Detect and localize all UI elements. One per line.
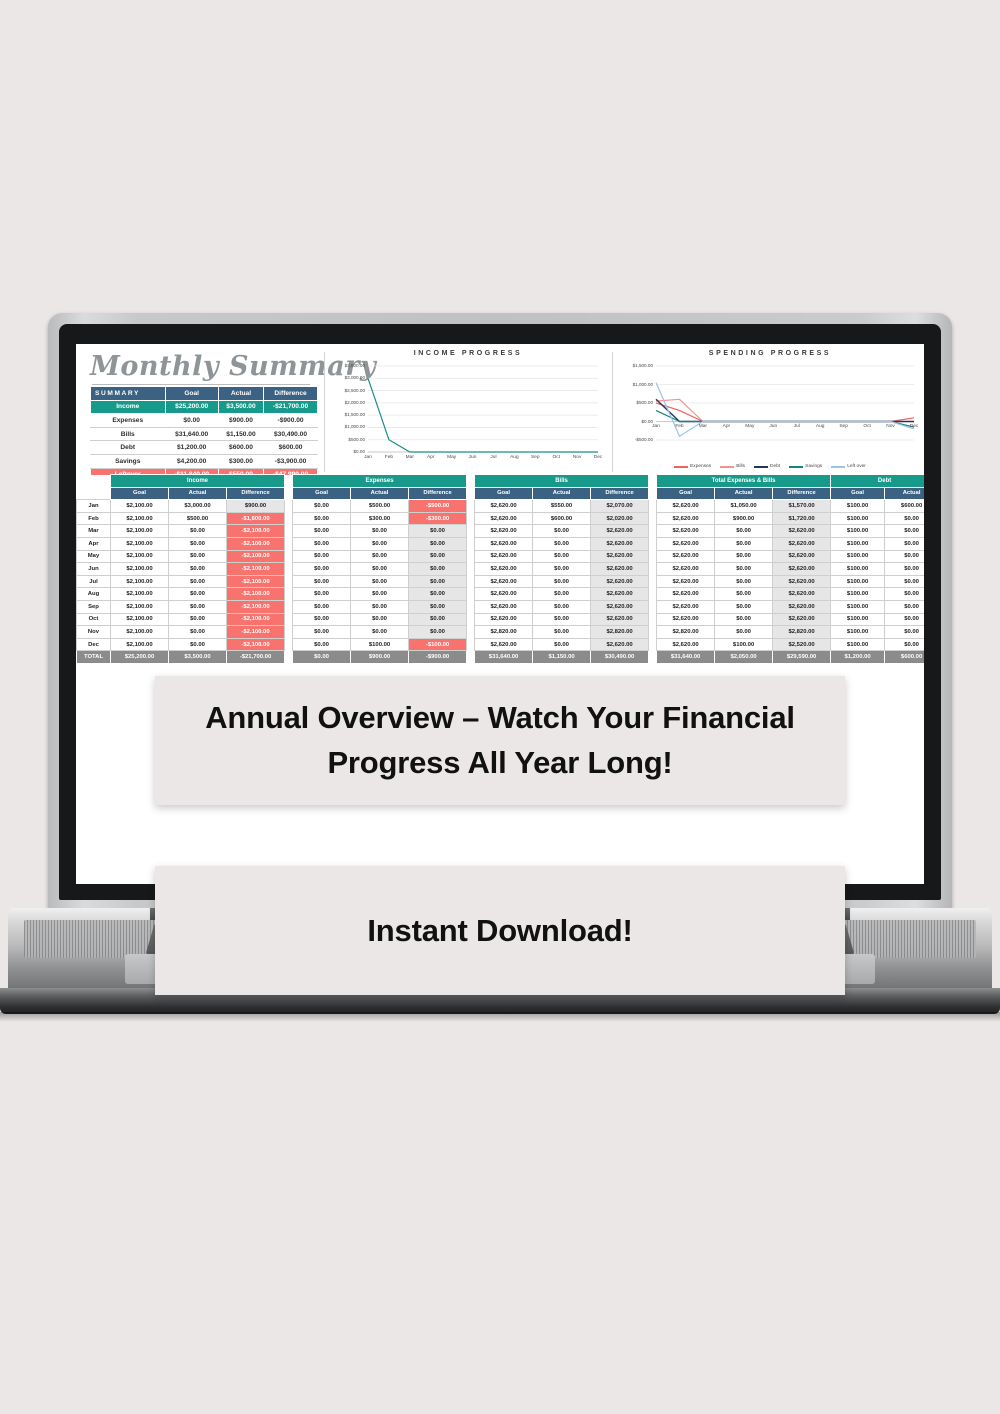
grid-cell-bills-difference: $2,620.00	[591, 525, 649, 538]
grid-cell-expenses-actual: $0.00	[351, 537, 409, 550]
summary-row-label: Debt	[91, 441, 166, 455]
x-axis-tick-label: Feb	[378, 455, 400, 460]
y-axis-tick-label: $0.00	[620, 419, 653, 424]
legend-label: Debt	[770, 464, 780, 469]
grid-total-cell-income: $3,500.00	[169, 651, 227, 664]
summary-row-difference: $600.00	[264, 441, 318, 455]
grid-cell-expenses-difference: $0.00	[409, 575, 467, 588]
y-axis-tick-label: $500.00	[332, 437, 365, 442]
grid-cell-income-difference: -$2,100.00	[227, 600, 285, 613]
grid-spacer	[649, 500, 657, 513]
summary-row-goal: $4,200.00	[165, 454, 218, 468]
grid-spacer	[467, 626, 475, 639]
summary-row-label: Bills	[91, 427, 166, 441]
grid-cell-bills-actual: $0.00	[533, 575, 591, 588]
grid-cell-expenses-goal: $0.00	[293, 613, 351, 626]
grid-cell-bills-difference: $2,620.00	[591, 550, 649, 563]
x-axis-tick-label: Oct	[856, 424, 878, 429]
grid-cell-income-actual: $0.00	[169, 537, 227, 550]
income-progress-chart: INCOME PROGRESS $3,500.00$3,000.00$2,500…	[332, 348, 604, 470]
x-axis-tick-label: Dec	[587, 455, 609, 460]
grid-cell-bills-actual: $0.00	[533, 588, 591, 601]
grid-total-cell-total_expenses_bills: $29,590.00	[773, 651, 831, 664]
grid-month-label: Mar	[77, 525, 111, 538]
grid-month-label: Dec	[77, 638, 111, 651]
grid-cell-income-actual: $0.00	[169, 600, 227, 613]
annual-grid-wrapper: IncomeExpensesBillsTotal Expenses & Bill…	[76, 474, 924, 664]
chart-income-plot	[332, 348, 604, 470]
table-row: Mar$2,100.00$0.00-$2,100.00$0.00$0.00$0.…	[77, 525, 925, 538]
grid-cell-income-goal: $2,100.00	[111, 575, 169, 588]
summary-header-actual: Actual	[218, 387, 263, 401]
x-axis-tick-label: Nov	[880, 424, 902, 429]
grid-cell-expenses-difference: -$500.00	[409, 500, 467, 513]
grid-cell-bills-goal: $2,820.00	[475, 626, 533, 639]
grid-spacer	[649, 575, 657, 588]
y-axis-tick-label: $3,000.00	[332, 375, 365, 380]
grid-cell-total_expenses_bills-goal: $2,620.00	[657, 537, 715, 550]
grid-cell-total_expenses_bills-difference: $2,620.00	[773, 575, 831, 588]
grid-total-cell-expenses: $0.00	[293, 651, 351, 664]
grid-total-cell-income: $25,200.00	[111, 651, 169, 664]
banner-annual-overview-text: Annual Overview – Watch Your Financial P…	[155, 696, 845, 786]
laptop-shadow	[0, 1012, 1000, 1022]
grid-spacer	[467, 600, 475, 613]
legend-swatch-icon	[789, 466, 803, 468]
grid-section-header-row: IncomeExpensesBillsTotal Expenses & Bill…	[77, 475, 925, 488]
grid-spacer	[285, 563, 293, 576]
grid-cell-total_expenses_bills-actual: $1,050.00	[715, 500, 773, 513]
x-axis-tick-label: Nov	[566, 455, 588, 460]
grid-total-cell-debt: $600.00	[885, 651, 924, 664]
grid-total-cell-bills: $30,490.00	[591, 651, 649, 664]
chart-spending-plot	[620, 348, 920, 470]
summary-row: Bills$31,640.00$1,150.00$30,490.00	[91, 427, 318, 441]
table-row: Oct$2,100.00$0.00-$2,100.00$0.00$0.00$0.…	[77, 613, 925, 626]
grid-cell-income-difference: -$2,100.00	[227, 613, 285, 626]
grid-spacer	[285, 638, 293, 651]
x-axis-tick-label: Oct	[545, 455, 567, 460]
grid-cell-bills-goal: $2,620.00	[475, 638, 533, 651]
chart-legend: ExpensesBillsDebtSavingsLeft over	[620, 464, 920, 469]
grid-cell-expenses-goal: $0.00	[293, 575, 351, 588]
page-title: Monthly Summary	[90, 350, 305, 384]
table-row: Aug$2,100.00$0.00-$2,100.00$0.00$0.00$0.…	[77, 588, 925, 601]
summary-row-actual: $1,150.00	[218, 427, 263, 441]
grid-spacer	[467, 651, 475, 664]
grid-subheader-actual: Actual	[169, 487, 227, 500]
grid-cell-total_expenses_bills-difference: $2,620.00	[773, 613, 831, 626]
grid-cell-income-goal: $2,100.00	[111, 600, 169, 613]
grid-cell-total_expenses_bills-goal: $2,620.00	[657, 638, 715, 651]
grid-cell-total_expenses_bills-actual: $0.00	[715, 588, 773, 601]
grid-subheader-difference: Difference	[773, 487, 831, 500]
summary-row: Savings$4,200.00$300.00-$3,900.00	[91, 454, 318, 468]
summary-row-label: Income	[91, 400, 166, 414]
grid-total-cell-expenses: -$900.00	[409, 651, 467, 664]
grid-cell-total_expenses_bills-actual: $900.00	[715, 512, 773, 525]
grid-cell-total_expenses_bills-actual: $0.00	[715, 525, 773, 538]
y-axis-tick-label: $1,500.00	[332, 412, 365, 417]
grid-cell-total_expenses_bills-goal: $2,620.00	[657, 512, 715, 525]
grid-spacer	[467, 613, 475, 626]
grid-cell-total_expenses_bills-difference: $2,620.00	[773, 563, 831, 576]
grid-month-label: Jan	[77, 500, 111, 513]
grid-cell-debt-goal: $100.00	[831, 613, 885, 626]
grid-cell-total_expenses_bills-goal: $2,820.00	[657, 626, 715, 639]
grid-cell-total_expenses_bills-difference: $2,620.00	[773, 525, 831, 538]
y-axis-tick-label: $2,500.00	[332, 388, 365, 393]
grid-section-header: Total Expenses & Bills	[657, 475, 831, 488]
grid-section-header: Bills	[475, 475, 649, 488]
grid-cell-expenses-actual: $0.00	[351, 563, 409, 576]
grid-cell-bills-difference: $2,620.00	[591, 537, 649, 550]
x-axis-tick-label: Apr	[420, 455, 442, 460]
grid-spacer	[467, 500, 475, 513]
grid-spacer	[285, 475, 293, 488]
table-row: Nov$2,100.00$0.00-$2,100.00$0.00$0.00$0.…	[77, 626, 925, 639]
summary-row-actual: $300.00	[218, 454, 263, 468]
grid-cell-expenses-actual: $0.00	[351, 626, 409, 639]
grid-cell-expenses-difference: $0.00	[409, 600, 467, 613]
grid-cell-bills-difference: $2,620.00	[591, 613, 649, 626]
grid-spacer	[467, 638, 475, 651]
grid-spacer	[649, 651, 657, 664]
x-axis-tick-label: Dec	[903, 424, 924, 429]
x-axis-tick-label: Jul	[786, 424, 808, 429]
grid-subheader-difference: Difference	[591, 487, 649, 500]
grid-total-cell-bills: $31,640.00	[475, 651, 533, 664]
grid-cell-income-difference: $900.00	[227, 500, 285, 513]
y-axis-tick-label: $2,000.00	[332, 400, 365, 405]
grid-cell-income-difference: -$2,100.00	[227, 537, 285, 550]
grid-cell-debt-actual: $0.00	[885, 537, 924, 550]
grid-spacer	[649, 512, 657, 525]
x-axis-tick-label: Aug	[503, 455, 525, 460]
grid-cell-debt-actual: $0.00	[885, 613, 924, 626]
legend-item: Expenses	[674, 464, 711, 469]
grid-spacer	[649, 626, 657, 639]
grid-cell-bills-goal: $2,620.00	[475, 563, 533, 576]
grid-section-header: Income	[111, 475, 285, 488]
grid-subheader-actual: Actual	[885, 487, 924, 500]
series-expenses	[656, 403, 914, 422]
grid-cell-debt-actual: $0.00	[885, 588, 924, 601]
y-axis-tick-label: $500.00	[620, 400, 653, 405]
grid-month-label: Apr	[77, 537, 111, 550]
grid-cell-income-goal: $2,100.00	[111, 613, 169, 626]
grid-cell-income-actual: $3,000.00	[169, 500, 227, 513]
grid-cell-income-difference: -$2,100.00	[227, 626, 285, 639]
grid-cell-total_expenses_bills-difference: $2,620.00	[773, 600, 831, 613]
grid-cell-expenses-actual: $0.00	[351, 588, 409, 601]
grid-spacer	[467, 537, 475, 550]
grid-cell-expenses-difference: $0.00	[409, 550, 467, 563]
grid-spacer	[649, 537, 657, 550]
grid-month-label: Nov	[77, 626, 111, 639]
grid-subheader-difference: Difference	[227, 487, 285, 500]
grid-cell-total_expenses_bills-actual: $0.00	[715, 626, 773, 639]
grid-cell-income-difference: -$2,100.00	[227, 525, 285, 538]
grid-spacer	[649, 638, 657, 651]
y-axis-tick-label: -$500.00	[620, 437, 653, 442]
x-axis-tick-label: May	[739, 424, 761, 429]
legend-item: Savings	[789, 464, 822, 469]
grid-cell-bills-difference: $2,620.00	[591, 600, 649, 613]
grid-spacer	[285, 626, 293, 639]
summary-row-difference: -$21,700.00	[264, 400, 318, 414]
grid-cell-debt-actual: $0.00	[885, 563, 924, 576]
legend-label: Bills	[736, 464, 745, 469]
grid-cell-bills-goal: $2,620.00	[475, 537, 533, 550]
grid-month-label: Oct	[77, 613, 111, 626]
grid-spacer	[649, 550, 657, 563]
grid-cell-expenses-actual: $500.00	[351, 500, 409, 513]
grid-cell-income-difference: -$1,600.00	[227, 512, 285, 525]
grid-cell-income-actual: $0.00	[169, 613, 227, 626]
grid-cell-debt-actual: $0.00	[885, 512, 924, 525]
summary-row-actual: $900.00	[218, 414, 263, 428]
grid-cell-income-difference: -$2,100.00	[227, 638, 285, 651]
summary-row: Expenses$0.00$900.00-$900.00	[91, 414, 318, 428]
grid-cell-debt-actual: $600.00	[885, 500, 924, 513]
table-row: May$2,100.00$0.00-$2,100.00$0.00$0.00$0.…	[77, 550, 925, 563]
grid-cell-debt-actual: $0.00	[885, 638, 924, 651]
grid-cell-bills-goal: $2,620.00	[475, 613, 533, 626]
grid-cell-expenses-actual: $100.00	[351, 638, 409, 651]
grid-cell-bills-actual: $0.00	[533, 638, 591, 651]
x-axis-tick-label: Feb	[668, 424, 690, 429]
x-axis-tick-label: Aug	[809, 424, 831, 429]
grid-cell-income-goal: $2,100.00	[111, 525, 169, 538]
grid-cell-income-goal: $2,100.00	[111, 588, 169, 601]
legend-label: Expenses	[690, 464, 711, 469]
grid-spacer	[649, 475, 657, 488]
grid-cell-debt-goal: $100.00	[831, 525, 885, 538]
summary-row-difference: -$3,900.00	[264, 454, 318, 468]
grid-cell-expenses-difference: $0.00	[409, 537, 467, 550]
grid-cell-bills-actual: $600.00	[533, 512, 591, 525]
grid-cell-total_expenses_bills-goal: $2,620.00	[657, 600, 715, 613]
grid-spacer	[467, 550, 475, 563]
table-row: Sep$2,100.00$0.00-$2,100.00$0.00$0.00$0.…	[77, 600, 925, 613]
grid-spacer	[649, 613, 657, 626]
grid-cell-debt-goal: $100.00	[831, 550, 885, 563]
x-axis-tick-label: Jan	[645, 424, 667, 429]
summary-row-goal: $0.00	[165, 414, 218, 428]
grid-spacer	[467, 563, 475, 576]
grid-cell-expenses-difference: $0.00	[409, 563, 467, 576]
grid-cell-bills-difference: $2,620.00	[591, 563, 649, 576]
annual-data-grid: IncomeExpensesBillsTotal Expenses & Bill…	[76, 474, 924, 664]
grid-cell-expenses-difference: $0.00	[409, 525, 467, 538]
grid-subheader-row: GoalActualDifferenceGoalActualDifference…	[77, 487, 925, 500]
grid-month-label: Feb	[77, 512, 111, 525]
x-axis-tick-label: Sep	[833, 424, 855, 429]
grid-subheader-actual: Actual	[533, 487, 591, 500]
grid-cell-expenses-actual: $0.00	[351, 600, 409, 613]
grid-cell-total_expenses_bills-difference: $2,620.00	[773, 588, 831, 601]
grid-cell-income-actual: $0.00	[169, 575, 227, 588]
legend-label: Savings	[805, 464, 822, 469]
grid-spacer	[649, 588, 657, 601]
table-row: Jul$2,100.00$0.00-$2,100.00$0.00$0.00$0.…	[77, 575, 925, 588]
grid-total-label: TOTAL	[77, 651, 111, 664]
grid-cell-income-actual: $0.00	[169, 588, 227, 601]
table-row: Dec$2,100.00$0.00-$2,100.00$0.00$100.00-…	[77, 638, 925, 651]
grid-cell-bills-difference: $2,820.00	[591, 626, 649, 639]
grid-cell-expenses-goal: $0.00	[293, 626, 351, 639]
grid-total-cell-debt: $1,200.00	[831, 651, 885, 664]
summary-table: SUMMARY Goal Actual Difference Income$25…	[90, 386, 318, 482]
grid-section-header: Debt	[831, 475, 924, 488]
grid-month-label: Jun	[77, 563, 111, 576]
grid-cell-total_expenses_bills-difference: $2,620.00	[773, 550, 831, 563]
grid-cell-total_expenses_bills-actual: $0.00	[715, 537, 773, 550]
y-axis-tick-label: $0.00	[332, 449, 365, 454]
y-axis-tick-label: $1,000.00	[620, 382, 653, 387]
summary-row-goal: $31,640.00	[165, 427, 218, 441]
grid-spacer	[649, 487, 657, 500]
grid-spacer	[467, 575, 475, 588]
grid-cell-income-goal: $2,100.00	[111, 512, 169, 525]
grid-cell-total_expenses_bills-goal: $2,620.00	[657, 588, 715, 601]
grid-cell-debt-goal: $100.00	[831, 600, 885, 613]
summary-row: Debt$1,200.00$600.00$600.00	[91, 441, 318, 455]
summary-row-label: Expenses	[91, 414, 166, 428]
summary-row: Income$25,200.00$3,500.00-$21,700.00	[91, 400, 318, 414]
grid-cell-bills-goal: $2,620.00	[475, 550, 533, 563]
grid-cell-debt-actual: $0.00	[885, 626, 924, 639]
grid-subheader-goal: Goal	[111, 487, 169, 500]
grid-cell-income-actual: $0.00	[169, 626, 227, 639]
summary-header-row: SUMMARY Goal Actual Difference	[91, 387, 318, 401]
grid-cell-expenses-difference: $0.00	[409, 626, 467, 639]
grid-subheader-actual: Actual	[715, 487, 773, 500]
table-row: Jan$2,100.00$3,000.00$900.00$0.00$500.00…	[77, 500, 925, 513]
grid-cell-debt-goal: $100.00	[831, 512, 885, 525]
x-axis-tick-label: Jun	[462, 455, 484, 460]
grid-subheader-goal: Goal	[657, 487, 715, 500]
legend-item: Bills	[720, 464, 745, 469]
grid-cell-bills-goal: $2,620.00	[475, 500, 533, 513]
grid-cell-total_expenses_bills-actual: $0.00	[715, 613, 773, 626]
grid-cell-total_expenses_bills-goal: $2,620.00	[657, 613, 715, 626]
grid-cell-total_expenses_bills-goal: $2,620.00	[657, 500, 715, 513]
legend-item: Left over	[831, 464, 866, 469]
grid-total-cell-expenses: $900.00	[351, 651, 409, 664]
grid-cell-expenses-actual: $0.00	[351, 525, 409, 538]
grid-spacer	[285, 487, 293, 500]
grid-spacer	[285, 613, 293, 626]
grid-cell-debt-actual: $0.00	[885, 550, 924, 563]
grid-month-label: May	[77, 550, 111, 563]
grid-cell-bills-actual: $0.00	[533, 525, 591, 538]
x-axis-tick-label: Apr	[715, 424, 737, 429]
grid-cell-income-actual: $0.00	[169, 638, 227, 651]
grid-cell-bills-actual: $0.00	[533, 537, 591, 550]
summary-row-actual: $3,500.00	[218, 400, 263, 414]
grid-spacer	[285, 512, 293, 525]
grid-cell-expenses-goal: $0.00	[293, 550, 351, 563]
grid-cell-bills-actual: $0.00	[533, 600, 591, 613]
grid-cell-bills-actual: $0.00	[533, 613, 591, 626]
grid-cell-income-goal: $2,100.00	[111, 563, 169, 576]
legend-swatch-icon	[831, 466, 845, 468]
grid-cell-bills-difference: $2,620.00	[591, 588, 649, 601]
grid-cell-total_expenses_bills-goal: $2,620.00	[657, 563, 715, 576]
grid-cell-debt-goal: $100.00	[831, 563, 885, 576]
legend-item: Debt	[754, 464, 780, 469]
grid-cell-income-goal: $2,100.00	[111, 638, 169, 651]
grid-cell-expenses-actual: $0.00	[351, 550, 409, 563]
grid-cell-bills-actual: $0.00	[533, 550, 591, 563]
grid-cell-bills-actual: $0.00	[533, 626, 591, 639]
grid-cell-bills-difference: $2,070.00	[591, 500, 649, 513]
grid-cell-expenses-difference: $0.00	[409, 588, 467, 601]
grid-cell-expenses-actual: $0.00	[351, 575, 409, 588]
grid-cell-bills-difference: $2,620.00	[591, 638, 649, 651]
grid-section-header: Expenses	[293, 475, 467, 488]
x-axis-tick-label: Mar	[399, 455, 421, 460]
grid-cell-bills-difference: $2,620.00	[591, 575, 649, 588]
y-axis-tick-label: $1,000.00	[332, 424, 365, 429]
grid-cell-income-actual: $500.00	[169, 512, 227, 525]
grid-cell-expenses-difference: -$100.00	[409, 638, 467, 651]
grid-total-cell-bills: $1,150.00	[533, 651, 591, 664]
grid-cell-expenses-goal: $0.00	[293, 525, 351, 538]
grid-cell-debt-actual: $0.00	[885, 525, 924, 538]
grid-cell-income-goal: $2,100.00	[111, 626, 169, 639]
grid-cell-bills-goal: $2,620.00	[475, 600, 533, 613]
grid-corner-cell	[77, 475, 111, 488]
grid-spacer	[467, 525, 475, 538]
grid-total-cell-income: -$21,700.00	[227, 651, 285, 664]
grid-cell-expenses-difference: -$300.00	[409, 512, 467, 525]
grid-cell-expenses-difference: $0.00	[409, 613, 467, 626]
grid-spacer	[467, 487, 475, 500]
x-axis-tick-label: Mar	[692, 424, 714, 429]
grid-cell-income-actual: $0.00	[169, 550, 227, 563]
x-axis-tick-label: Jan	[357, 455, 379, 460]
grid-spacer	[285, 600, 293, 613]
summary-header-goal: Goal	[165, 387, 218, 401]
grid-cell-expenses-goal: $0.00	[293, 563, 351, 576]
grid-cell-expenses-goal: $0.00	[293, 588, 351, 601]
grid-spacer	[285, 651, 293, 664]
banner-annual-overview: Annual Overview – Watch Your Financial P…	[155, 676, 845, 805]
y-axis-tick-label: $1,500.00	[620, 363, 653, 368]
grid-subheader-goal: Goal	[831, 487, 885, 500]
grid-cell-total_expenses_bills-goal: $2,620.00	[657, 550, 715, 563]
banner-instant-download-text: Instant Download!	[367, 913, 632, 949]
grid-spacer	[285, 550, 293, 563]
grid-cell-total_expenses_bills-difference: $2,620.00	[773, 537, 831, 550]
grid-cell-total_expenses_bills-difference: $1,720.00	[773, 512, 831, 525]
grid-spacer	[467, 588, 475, 601]
grid-cell-total_expenses_bills-actual: $100.00	[715, 638, 773, 651]
grid-subheader-goal: Goal	[293, 487, 351, 500]
grid-cell-income-goal: $2,100.00	[111, 537, 169, 550]
grid-cell-debt-actual: $0.00	[885, 600, 924, 613]
grid-spacer	[285, 537, 293, 550]
table-row: Jun$2,100.00$0.00-$2,100.00$0.00$0.00$0.…	[77, 563, 925, 576]
grid-spacer	[649, 525, 657, 538]
summary-row-difference: $30,490.00	[264, 427, 318, 441]
table-row: Feb$2,100.00$500.00-$1,600.00$0.00$300.0…	[77, 512, 925, 525]
y-axis-tick-label: $3,500.00	[332, 363, 365, 368]
summary-row-actual: $600.00	[218, 441, 263, 455]
